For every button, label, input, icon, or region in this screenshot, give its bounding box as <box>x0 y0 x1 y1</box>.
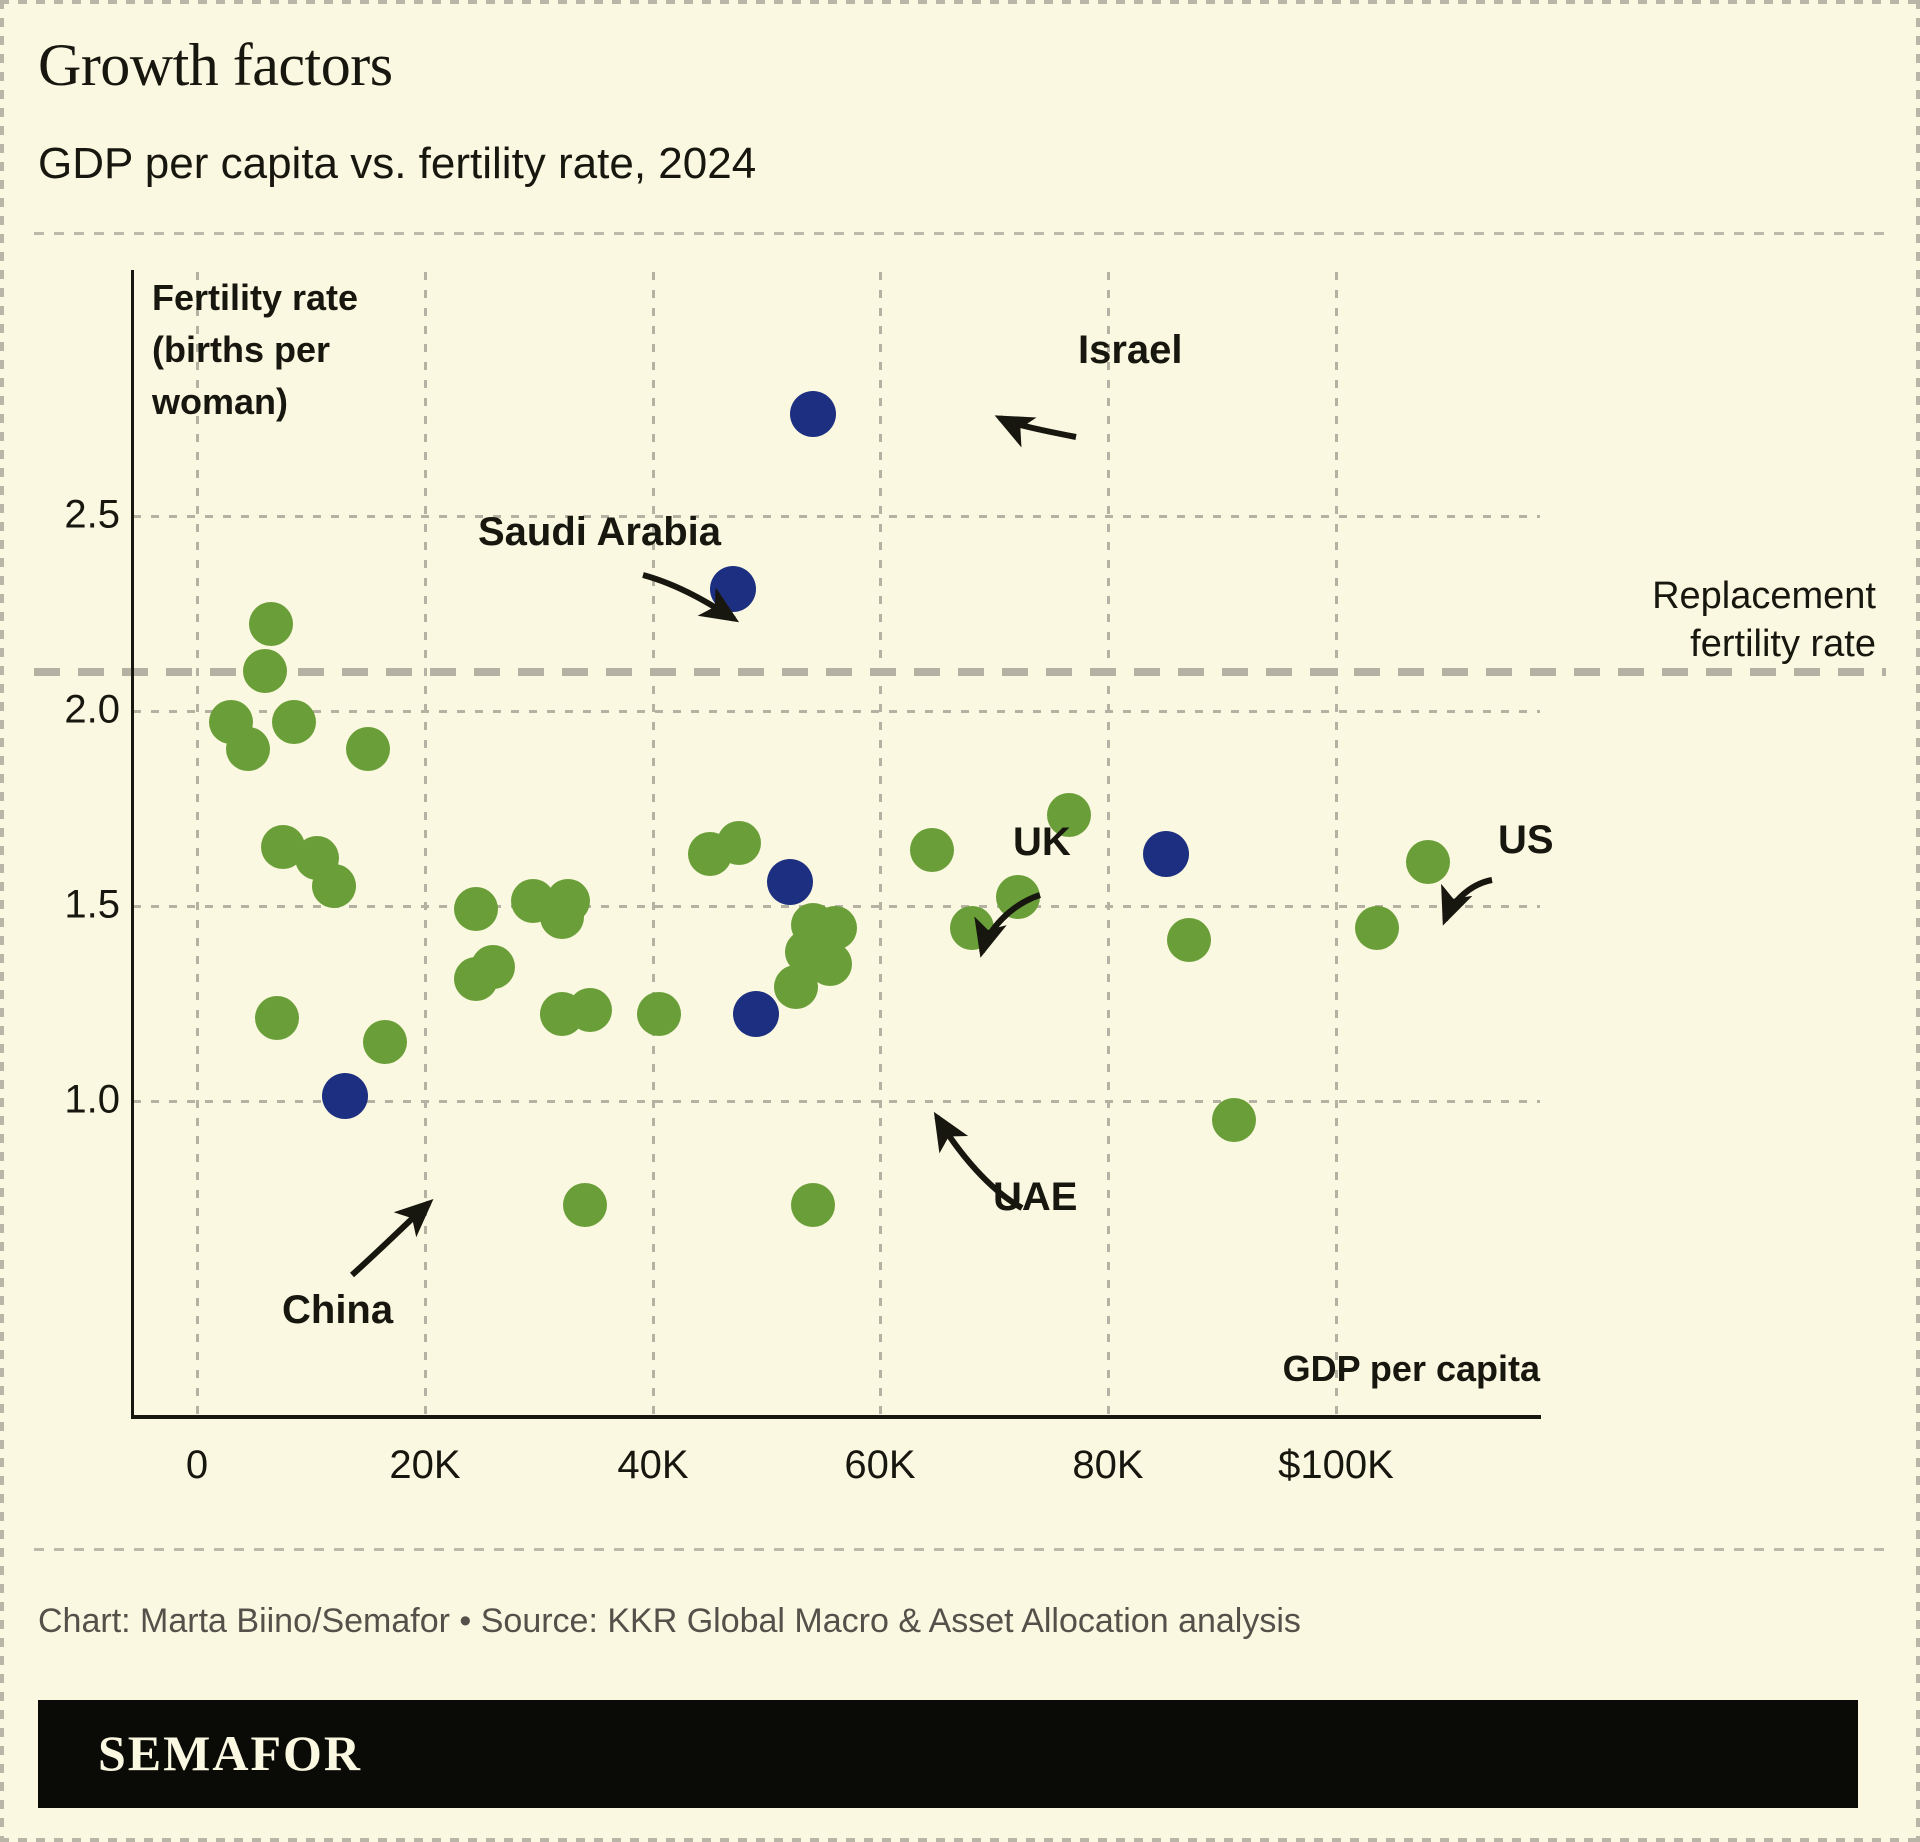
gridline-x-0 <box>196 272 199 1417</box>
data-point <box>568 988 612 1032</box>
label-uae: UAE <box>993 1175 1077 1220</box>
data-point <box>910 828 954 872</box>
label-us: US <box>1498 818 1554 863</box>
x-tick-80k: 80K <box>1072 1443 1143 1488</box>
label-israel: Israel <box>1078 328 1183 373</box>
arrow-china <box>352 1203 429 1275</box>
x-tick-20k: 20K <box>389 1443 460 1488</box>
data-point <box>363 1020 407 1064</box>
y-axis-label: Fertility rate (births per woman) <box>152 272 442 428</box>
data-point-china <box>322 1073 368 1119</box>
scatter-plot: 2.5 2.0 1.5 1.0 0 20K 40K 60K 80K $100K … <box>0 0 1920 1842</box>
data-point <box>717 821 761 865</box>
gridline-x-60k <box>879 272 882 1417</box>
gridline-x-100k <box>1335 272 1338 1417</box>
arrow-us <box>1445 880 1492 920</box>
x-tick-100k: $100K <box>1278 1443 1394 1488</box>
data-point <box>312 864 356 908</box>
data-point <box>540 895 584 939</box>
data-point <box>791 1183 835 1227</box>
semafor-wordmark: SEMAFOR <box>98 1724 362 1782</box>
data-point <box>454 957 498 1001</box>
x-tick-0: 0 <box>186 1443 208 1488</box>
data-point-us <box>1143 831 1189 877</box>
gridline-x-40k <box>652 272 655 1417</box>
data-point <box>996 875 1040 919</box>
data-point <box>226 727 270 771</box>
chart-credit: Chart: Marta Biino/Semafor • Source: KKR… <box>38 1602 1301 1641</box>
label-uk: UK <box>1013 820 1071 865</box>
data-point <box>272 700 316 744</box>
data-point <box>950 906 994 950</box>
data-point <box>1167 918 1211 962</box>
x-tick-40k: 40K <box>617 1443 688 1488</box>
data-point <box>243 649 287 693</box>
data-point-uae <box>733 991 779 1037</box>
data-point <box>774 965 818 1009</box>
data-point <box>563 1183 607 1227</box>
gridline-y-2-0 <box>133 710 1540 713</box>
data-point <box>1406 840 1450 884</box>
data-point <box>637 992 681 1036</box>
x-axis-line <box>131 1415 1541 1419</box>
data-point <box>454 887 498 931</box>
semafor-logo-bar: SEMAFOR <box>38 1700 1858 1808</box>
data-point-saudi-arabia <box>710 566 756 612</box>
data-point-uk <box>767 859 813 905</box>
y-axis-line <box>131 270 134 1418</box>
gridline-x-20k <box>424 272 427 1417</box>
chart-card: Growth factors GDP per capita vs. fertil… <box>0 0 1920 1842</box>
replacement-fertility-line <box>34 668 1886 676</box>
data-point <box>1212 1098 1256 1142</box>
data-point <box>346 727 390 771</box>
data-point <box>1355 906 1399 950</box>
gridline-x-80k <box>1107 272 1110 1417</box>
gridline-y-2-5 <box>133 515 1540 518</box>
data-point-israel <box>790 391 836 437</box>
label-china: China <box>282 1288 393 1333</box>
arrow-israel <box>1000 418 1076 437</box>
x-tick-60k: 60K <box>844 1443 915 1488</box>
x-axis-label: GDP per capita <box>1283 1348 1540 1390</box>
label-saudi-arabia: Saudi Arabia <box>478 510 721 555</box>
data-point <box>255 996 299 1040</box>
replacement-line-label: Replacement fertility rate <box>1546 572 1876 668</box>
data-point <box>249 602 293 646</box>
